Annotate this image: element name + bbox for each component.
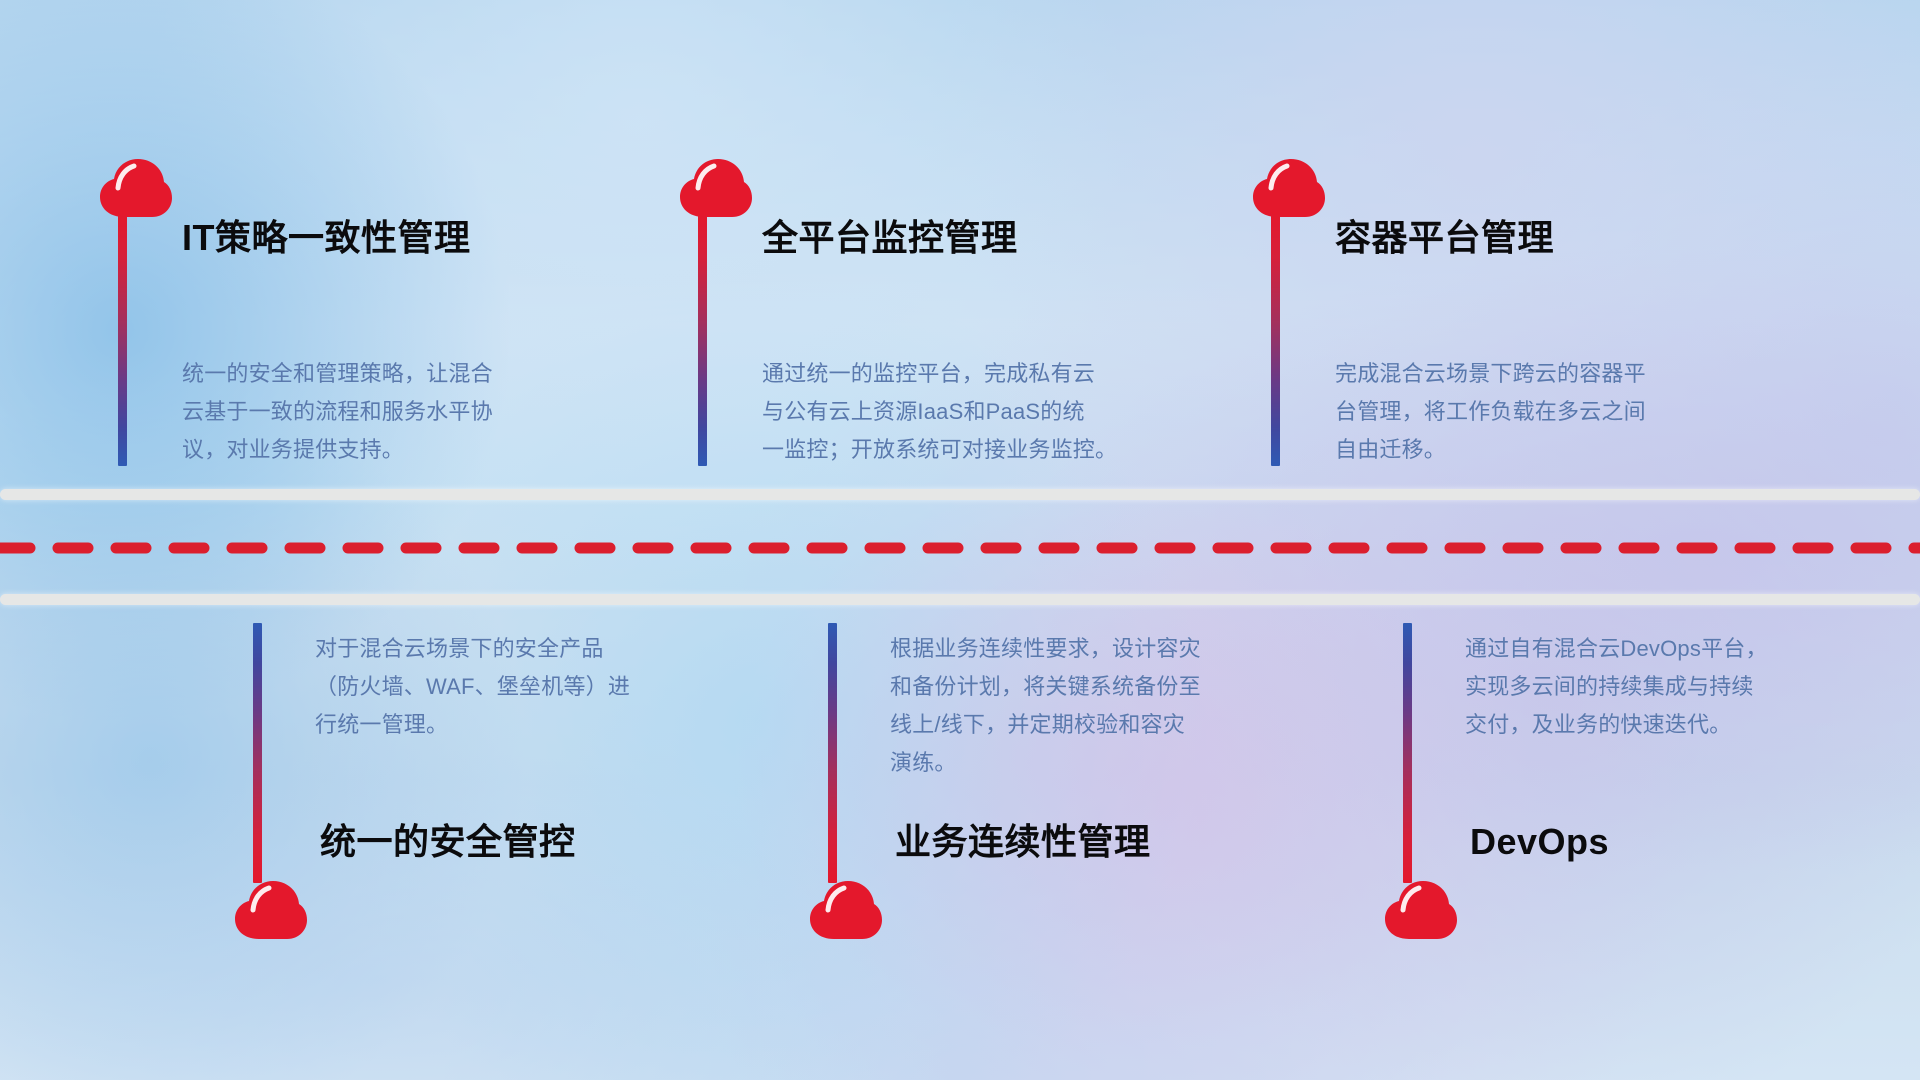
description-line: 云基于一致的流程和服务水平协: [182, 393, 542, 431]
card-description: 通过统一的监控平台，完成私有云 与公有云上资源IaaS和PaaS的统 一监控；开…: [762, 355, 1122, 469]
description-line: （防火墙、WAF、堡垒机等）进: [315, 668, 675, 706]
cloud-icon: [808, 880, 884, 940]
connector-stem: [698, 212, 707, 466]
description-line: 和备份计划，将关键系统备份至: [890, 668, 1250, 706]
cloud-icon: [678, 158, 754, 218]
card-description: 通过自有混合云DevOps平台， 实现多云间的持续集成与持续 交付，及业务的快速…: [1465, 630, 1825, 744]
card-title: 全平台监控管理: [762, 220, 1018, 256]
connector-stem: [253, 623, 262, 883]
road-edge-bottom: [0, 594, 1920, 605]
description-line: 行统一管理。: [315, 706, 675, 744]
cloud-icon: [1383, 880, 1459, 940]
description-line: 交付，及业务的快速迭代。: [1465, 706, 1825, 744]
cloud-icon: [98, 158, 174, 218]
description-line: 根据业务连续性要求，设计容灾: [890, 630, 1250, 668]
road-center-dashes: [0, 542, 1920, 554]
card-description: 根据业务连续性要求，设计容灾 和备份计划，将关键系统备份至 线上/线下，并定期校…: [890, 630, 1250, 782]
description-line: 统一的安全和管理策略，让混合: [182, 355, 542, 393]
card-description: 对于混合云场景下的安全产品 （防火墙、WAF、堡垒机等）进 行统一管理。: [315, 630, 675, 744]
road-edge-top: [0, 489, 1920, 500]
cloud-icon: [233, 880, 309, 940]
description-line: 议，对业务提供支持。: [182, 431, 542, 469]
description-line: 一监控；开放系统可对接业务监控。: [762, 431, 1122, 469]
description-line: 演练。: [890, 744, 1250, 782]
connector-stem: [1403, 623, 1412, 883]
description-line: 通过自有混合云DevOps平台，: [1465, 630, 1825, 668]
card-title: IT策略一致性管理: [182, 220, 471, 256]
description-line: 线上/线下，并定期校验和容灾: [890, 706, 1250, 744]
card-title: 容器平台管理: [1335, 220, 1554, 256]
connector-stem: [828, 623, 837, 883]
card-title: 业务连续性管理: [895, 824, 1151, 860]
cloud-icon: [1251, 158, 1327, 218]
description-line: 实现多云间的持续集成与持续: [1465, 668, 1825, 706]
connector-stem: [1271, 212, 1280, 466]
card-title: 统一的安全管控: [320, 824, 576, 860]
description-line: 台管理，将工作负载在多云之间: [1335, 393, 1695, 431]
card-title: DevOps: [1470, 824, 1609, 860]
card-description: 统一的安全和管理策略，让混合 云基于一致的流程和服务水平协 议，对业务提供支持。: [182, 355, 542, 469]
description-line: 与公有云上资源IaaS和PaaS的统: [762, 393, 1122, 431]
description-line: 完成混合云场景下跨云的容器平: [1335, 355, 1695, 393]
description-line: 通过统一的监控平台，完成私有云: [762, 355, 1122, 393]
description-line: 自由迁移。: [1335, 431, 1695, 469]
infographic-canvas: IT策略一致性管理 统一的安全和管理策略，让混合 云基于一致的流程和服务水平协 …: [0, 0, 1920, 1080]
description-line: 对于混合云场景下的安全产品: [315, 630, 675, 668]
card-description: 完成混合云场景下跨云的容器平 台管理，将工作负载在多云之间 自由迁移。: [1335, 355, 1695, 469]
connector-stem: [118, 212, 127, 466]
